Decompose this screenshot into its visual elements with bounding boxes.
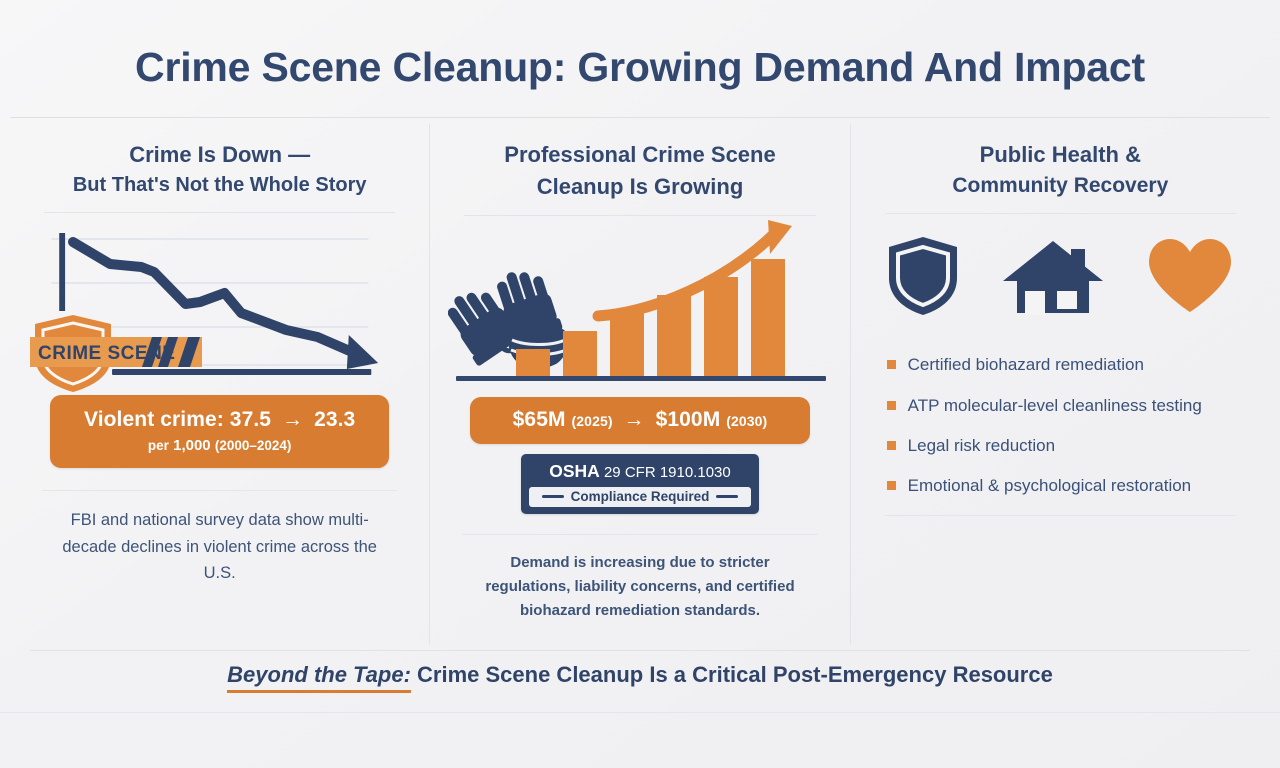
osha-compliance-badge: OSHA 29 CFR 1910.1030 Compliance Require… (521, 454, 759, 514)
violent-crime-label: Violent crime: (84, 408, 224, 431)
column-1-note-divider (42, 490, 397, 491)
violent-crime-to: 23.3 (314, 408, 355, 431)
osha-compliance-line: Compliance Required (529, 487, 751, 507)
column-3-heading-line2: Community Recovery (865, 171, 1256, 201)
violent-crime-from: 37.5 (230, 408, 271, 431)
market-size-from-value: $65M (513, 408, 566, 431)
columns-container: Crime Is Down — But That's Not the Whole… (10, 124, 1270, 644)
shield-icon (885, 234, 961, 318)
violent-crime-unit-lead: per (148, 438, 169, 453)
column-crime-is-down: Crime Is Down — But That's Not the Whole… (10, 124, 429, 644)
market-size-stat-box: $65M (2025) → $100M (2030) (470, 397, 809, 444)
column-3-heading-line1: Public Health & (980, 142, 1141, 167)
dash-right-icon (716, 495, 738, 498)
page-title: Crime Scene Cleanup: Growing Demand And … (0, 44, 1280, 91)
violent-crime-stat-box: Violent crime: 37.5 → 23.3 per 1,000 (20… (50, 395, 389, 468)
column-3-bottom-divider (885, 515, 1236, 516)
column-1-heading: Crime Is Down — But That's Not the Whole… (24, 124, 415, 200)
column-2-heading: Professional Crime Scene Cleanup Is Grow… (444, 124, 835, 203)
public-health-icons (865, 220, 1256, 332)
footer-emphasis: Beyond the Tape: (227, 662, 411, 693)
column-3-heading: Public Health & Community Recovery (865, 124, 1256, 201)
market-size-from-year: (2025) (572, 413, 613, 429)
list-item: ATP molecular-level cleanliness testing (887, 395, 1248, 416)
house-icon (1001, 235, 1105, 317)
violent-crime-unit-value: 1,000 (173, 437, 211, 454)
bar-6 (751, 259, 785, 377)
dash-left-icon (542, 495, 564, 498)
column-1-heading-line1: Crime Is Down — (129, 142, 310, 167)
crime-scene-badge: CRIME SCENE (28, 309, 218, 395)
growth-bar-chart (444, 220, 835, 395)
infographic-page: Crime Scene Cleanup: Growing Demand And … (0, 0, 1280, 768)
heart-icon (1145, 236, 1235, 316)
bullet-text: Certified biohazard remediation (908, 354, 1144, 375)
column-cleanup-growing: Professional Crime Scene Cleanup Is Grow… (429, 124, 849, 644)
bullet-text: ATP molecular-level cleanliness testing (908, 395, 1202, 416)
bar-chart-baseline (456, 376, 825, 381)
public-health-bullets: Certified biohazard remediation ATP mole… (887, 354, 1248, 496)
bar-3 (610, 313, 644, 377)
list-item: Emotional & psychological restoration (887, 475, 1248, 496)
violent-crime-stat-line2: per 1,000 (2000–2024) (60, 437, 379, 454)
column-2-note-divider (462, 534, 817, 535)
bullet-square-icon (887, 360, 896, 369)
title-divider (10, 117, 1270, 118)
arrow-right-icon: → (277, 408, 308, 431)
footer-top-divider (30, 650, 1250, 651)
violent-crime-period: (2000–2024) (215, 438, 292, 453)
arrow-right-icon: → (619, 408, 650, 431)
list-item: Certified biohazard remediation (887, 354, 1248, 375)
bar-1 (516, 349, 550, 377)
violent-crime-stat-line1: Violent crime: 37.5 → 23.3 (60, 408, 379, 432)
column-1-heading-line2: But That's Not the Whole Story (24, 171, 415, 200)
bullet-text: Emotional & psychological restoration (908, 475, 1191, 496)
bullet-square-icon (887, 441, 896, 450)
column-2-heading-line1: Professional Crime Scene (504, 142, 775, 167)
column-3-divider (885, 213, 1236, 214)
osha-standard: 29 CFR 1910.1030 (604, 464, 731, 481)
osha-agency: OSHA (549, 461, 600, 481)
market-size-stat-line: $65M (2025) → $100M (2030) (480, 408, 799, 432)
osha-standard-line: OSHA 29 CFR 1910.1030 (529, 461, 751, 482)
column-1-note: FBI and national survey data show multi-… (24, 507, 415, 587)
declining-crime-chart: CRIME SCENE (24, 217, 415, 389)
bar-4 (657, 295, 691, 377)
crime-scene-tape: CRIME SCENE (30, 337, 202, 367)
bullet-square-icon (887, 401, 896, 410)
bullet-square-icon (887, 481, 896, 490)
bar-series (516, 247, 785, 377)
osha-compliance-text: Compliance Required (571, 489, 710, 504)
column-2-note: Demand is increasing due to stricter reg… (444, 551, 835, 623)
market-size-to-value: $100M (656, 408, 721, 431)
column-public-health: Public Health & Community Recovery (850, 124, 1270, 644)
list-item: Legal risk reduction (887, 435, 1248, 456)
column-1-divider (44, 212, 395, 213)
footer-rest: Crime Scene Cleanup Is a Critical Post-E… (411, 662, 1053, 687)
bar-2 (563, 331, 597, 377)
footer-bottom-divider (0, 712, 1280, 713)
footer-banner: Beyond the Tape: Crime Scene Cleanup Is … (0, 662, 1280, 688)
market-size-to-year: (2030) (726, 413, 767, 429)
column-2-heading-line2: Cleanup Is Growing (444, 171, 835, 203)
bar-5 (704, 277, 738, 377)
svg-text:CRIME SCENE: CRIME SCENE (38, 343, 175, 364)
column-2-divider (464, 215, 815, 216)
bullet-text: Legal risk reduction (908, 435, 1055, 456)
